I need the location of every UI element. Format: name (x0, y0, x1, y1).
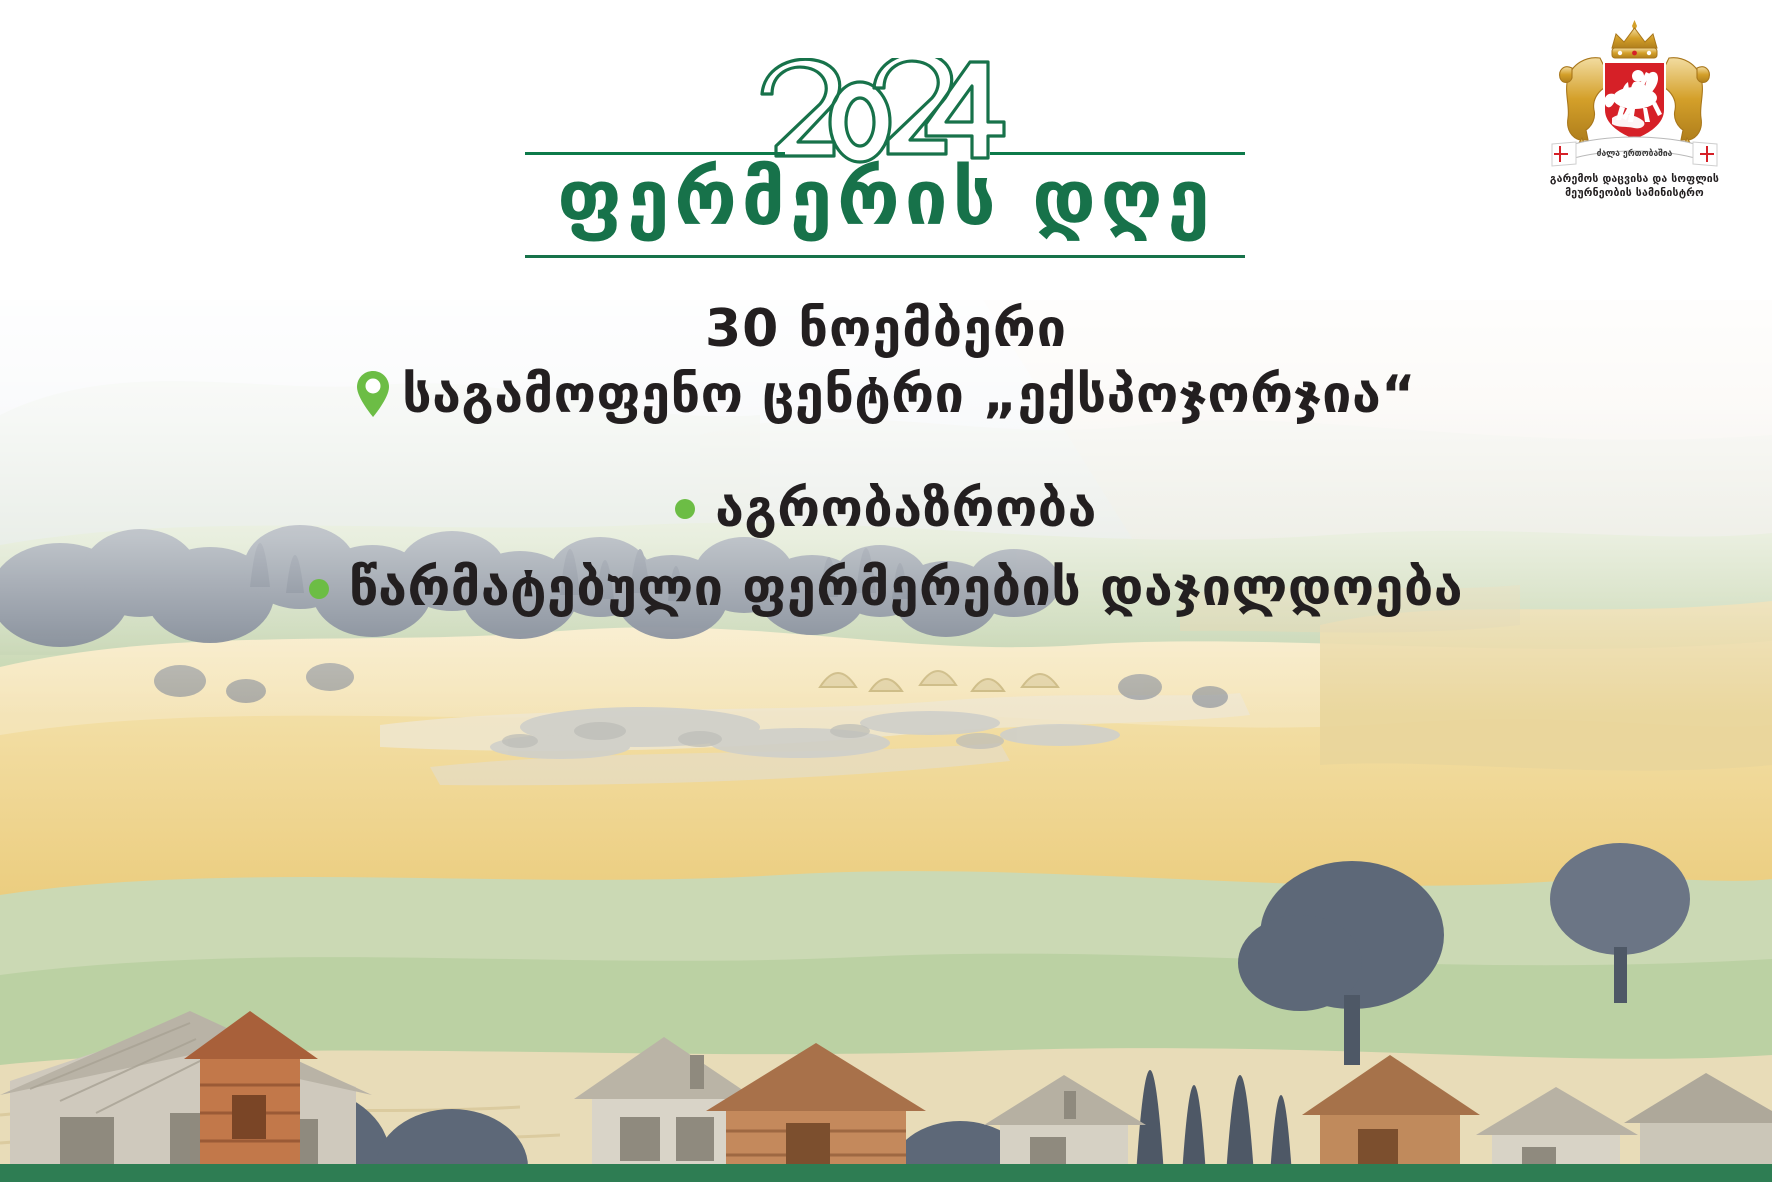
bullet-dot-icon (675, 499, 695, 519)
event-date: 30 ნოემბერი (0, 300, 1772, 360)
list-item: აგრობაზრობა (0, 478, 1772, 541)
year-2024-logo (756, 58, 1016, 168)
ministry-name-line1: გარემოს დაცვისა და სოფლის (1527, 172, 1742, 186)
bottom-accent-strip (0, 1164, 1772, 1182)
bullet-dot-icon (309, 579, 329, 599)
page-title: ფერმერის დღე (0, 160, 1772, 236)
program-item-label: წარმატებული ფერმერების დაჯილდოება (349, 557, 1463, 620)
crest-motto: ძალა ერთობაშია (1597, 148, 1673, 159)
poster-root: ფერმერის დღე (0, 0, 1772, 1182)
location-pin-icon (356, 370, 390, 418)
list-item: წარმატებული ფერმერების დაჯილდოება (0, 557, 1772, 620)
event-venue-label: საგამოფენო ცენტრი „ექსპოჯორჯია“ (402, 366, 1416, 426)
ministry-name-line2: მეურნეობის სამინისტრო (1527, 186, 1742, 200)
georgia-coat-of-arms-icon: ძალა ერთობაშია (1542, 14, 1727, 169)
event-program-list: აგრობაზრობა წარმატებული ფერმერების დაჯილ… (0, 478, 1772, 621)
title-underline (525, 255, 1245, 258)
event-details: 30 ნოემბერი საგამოფენო ცენტრი „ექსპოჯორჯ… (0, 300, 1772, 636)
event-venue-row: საგამოფენო ცენტრი „ექსპოჯორჯია“ (0, 366, 1772, 426)
ministry-logo: ძალა ერთობაშია გარემოს დაცვისა და სოფლის… (1527, 14, 1742, 219)
program-item-label: აგრობაზრობა (715, 478, 1097, 541)
